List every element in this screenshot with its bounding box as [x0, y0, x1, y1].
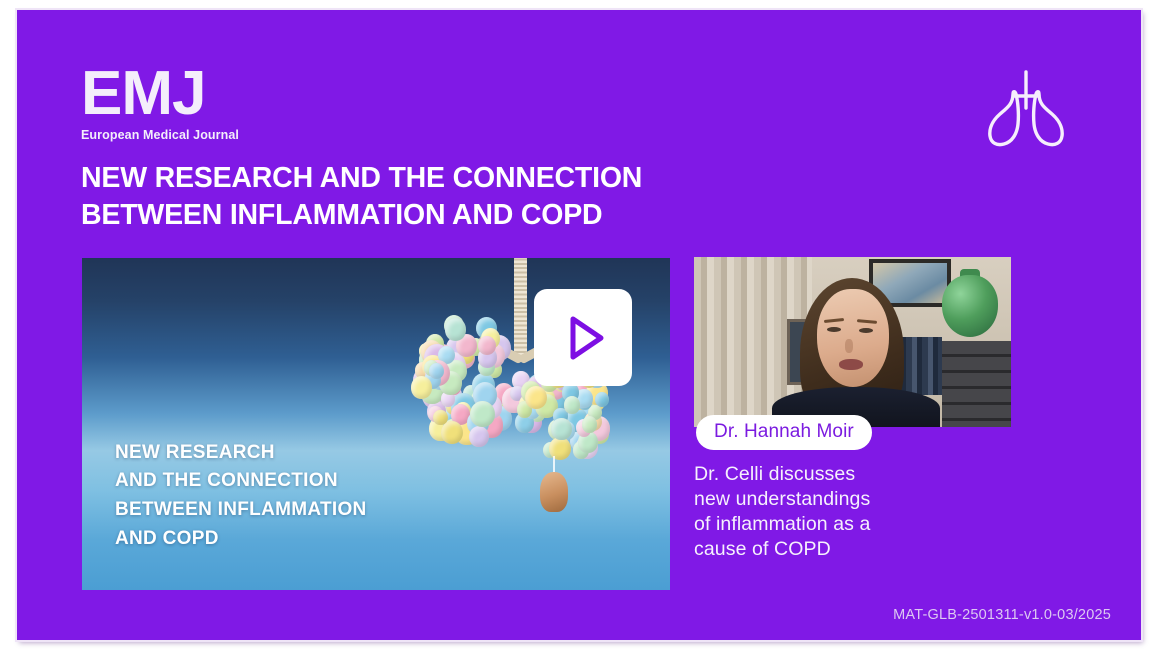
speaker-description-line2: new understandings — [694, 487, 964, 512]
speaker-face — [817, 289, 889, 387]
play-button[interactable] — [534, 289, 632, 386]
speaker-description-line3: of inflammation as a — [694, 512, 964, 537]
eye-left — [827, 327, 841, 332]
page-title: NEW RESEARCH AND THE CONNECTION BETWEEN … — [81, 160, 781, 235]
trachea-shape — [514, 258, 527, 362]
page-title-line1: NEW RESEARCH AND THE CONNECTION — [81, 160, 781, 197]
slide-canvas: EMJ European Medical Journal NEW RESEARC… — [17, 10, 1141, 640]
video-thumbnail[interactable]: NEW RESEARCH AND THE CONNECTION BETWEEN … — [82, 258, 670, 590]
video-overlay-title-line1: NEW RESEARCH — [115, 439, 367, 468]
footer-reference-code: MAT-GLB-2501311-v1.0-03/2025 — [893, 607, 1111, 623]
speaker-name-badge: Dr. Hannah Moir — [696, 415, 872, 450]
nose — [845, 339, 853, 353]
green-vase — [942, 275, 998, 337]
mouth — [839, 359, 863, 370]
balloon-shape — [525, 386, 547, 409]
shelf-unit — [942, 341, 1011, 427]
hand-shape — [540, 472, 568, 512]
lungs-icon — [983, 68, 1069, 150]
video-overlay-title-line4: AND COPD — [115, 525, 367, 554]
emj-logo-subtitle: European Medical Journal — [81, 128, 331, 142]
speaker-description-line1: Dr. Celli discusses — [694, 462, 964, 487]
eye-right — [859, 328, 873, 333]
speaker-description-line4: cause of COPD — [694, 537, 964, 562]
balloon-shape — [551, 418, 571, 440]
video-overlay-title-line3: BETWEEN INFLAMMATION — [115, 496, 367, 525]
hand-illustration — [534, 456, 574, 512]
play-triangle-icon — [556, 311, 610, 365]
speaker-video-thumbnail[interactable] — [694, 257, 1011, 427]
balloon-shape — [411, 376, 432, 399]
page-title-line2: BETWEEN INFLAMMATION AND COPD — [81, 197, 781, 234]
balloon-shape — [469, 426, 489, 448]
emj-wordmark: EMJ — [81, 65, 331, 122]
emj-logo[interactable]: EMJ European Medical Journal — [81, 65, 331, 142]
balloon-shape — [582, 416, 597, 433]
video-overlay-title-line2: AND THE CONNECTION — [115, 467, 367, 496]
balloon-shape — [429, 363, 444, 379]
balloon-shape — [445, 318, 466, 341]
speaker-description: Dr. Celli discusses new understandings o… — [694, 462, 964, 563]
video-overlay-title: NEW RESEARCH AND THE CONNECTION BETWEEN … — [115, 439, 367, 555]
balloon-shape — [470, 401, 495, 427]
